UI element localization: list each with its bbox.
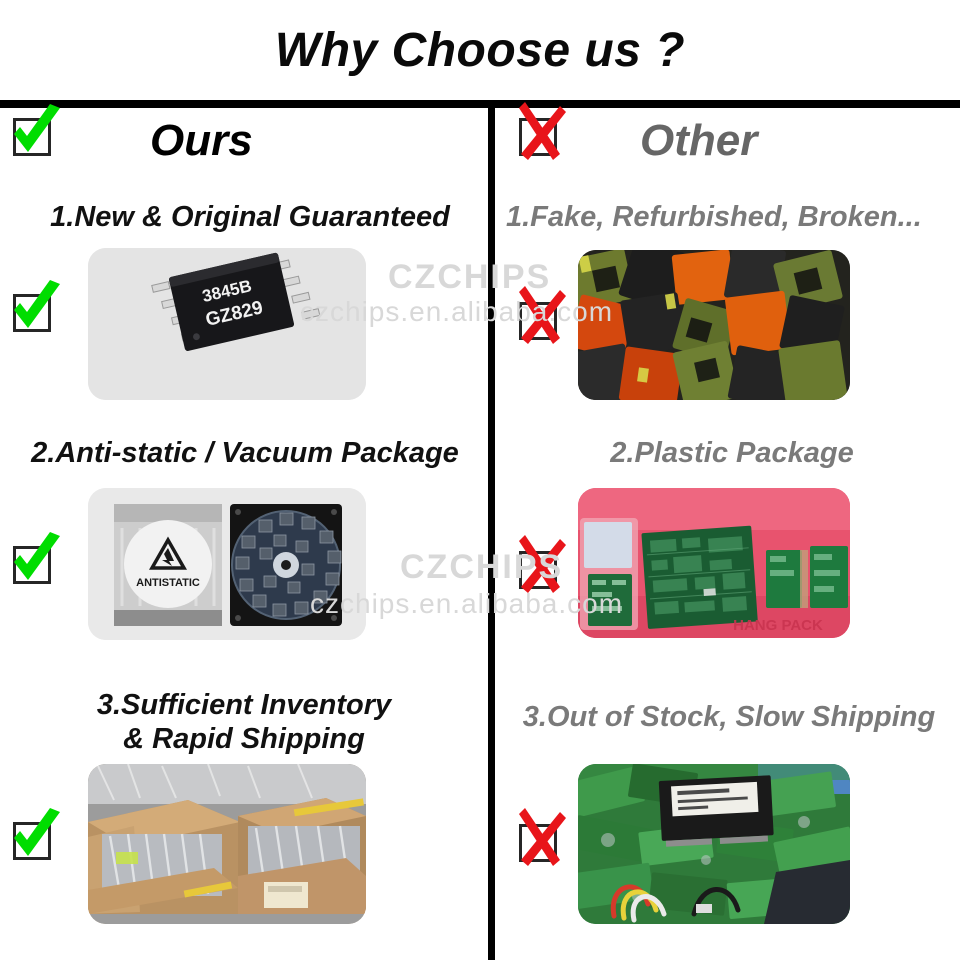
why-choose-us-infographic: Why Choose us ? Ours Other <box>0 0 960 960</box>
row1-other-caption: 1.Fake, Refurbished, Broken... <box>506 200 958 234</box>
antistatic-package-illustration: ANTISTATIC <box>88 488 366 640</box>
row3-ours-caption: 3.Sufficient Inventory & Rapid Shipping <box>24 688 464 756</box>
row3-ours-photo <box>88 764 366 924</box>
ic-chip-illustration: 3845B GZ829 <box>88 248 366 400</box>
check-mark-icon-header <box>10 112 56 160</box>
column-header-other: Other <box>640 108 940 174</box>
cross-mark-icon-row3 <box>516 818 562 866</box>
cross-glyph <box>508 533 570 599</box>
horizontal-divider <box>0 100 960 108</box>
check-glyph <box>2 100 64 166</box>
check-mark-icon-row1 <box>10 288 56 336</box>
row1-ours-caption: 1.New & Original Guaranteed <box>24 200 476 234</box>
check-mark-icon-row2 <box>10 540 56 588</box>
check-glyph <box>2 804 64 870</box>
check-glyph <box>2 528 64 594</box>
cross-glyph <box>508 100 570 166</box>
antistatic-label: ANTISTATIC <box>136 577 200 589</box>
plastic-package-illustration: HANG PACK <box>578 488 850 638</box>
row2-other-photo: HANG PACK <box>578 488 850 638</box>
row1-ours-photo: 3845B GZ829 <box>88 248 366 400</box>
scrap-boards-illustration <box>578 764 850 924</box>
row2-other-caption: 2.Plastic Package <box>506 436 958 470</box>
column-header-ours: Ours <box>150 108 480 174</box>
cross-mark-icon-header <box>516 112 562 160</box>
cross-mark-icon-row1 <box>516 296 562 344</box>
cross-glyph <box>508 806 570 872</box>
row3-other-photo <box>578 764 850 924</box>
row2-ours-photo: ANTISTATIC <box>88 488 366 640</box>
scrap-chips-illustration <box>578 250 850 400</box>
cross-glyph <box>508 284 570 350</box>
page-title: Why Choose us ? <box>0 18 960 84</box>
inventory-boxes-illustration <box>88 764 366 924</box>
vertical-divider <box>488 108 495 960</box>
row1-other-photo <box>578 250 850 400</box>
row2-ours-caption: 2.Anti-static / Vacuum Package <box>10 436 480 470</box>
row3-other-caption: 3.Out of Stock, Slow Shipping <box>500 700 958 734</box>
cross-mark-icon-row2 <box>516 545 562 593</box>
check-mark-icon-row3 <box>10 816 56 864</box>
package-brand-text: HANG PACK <box>733 617 823 634</box>
check-glyph <box>2 276 64 342</box>
